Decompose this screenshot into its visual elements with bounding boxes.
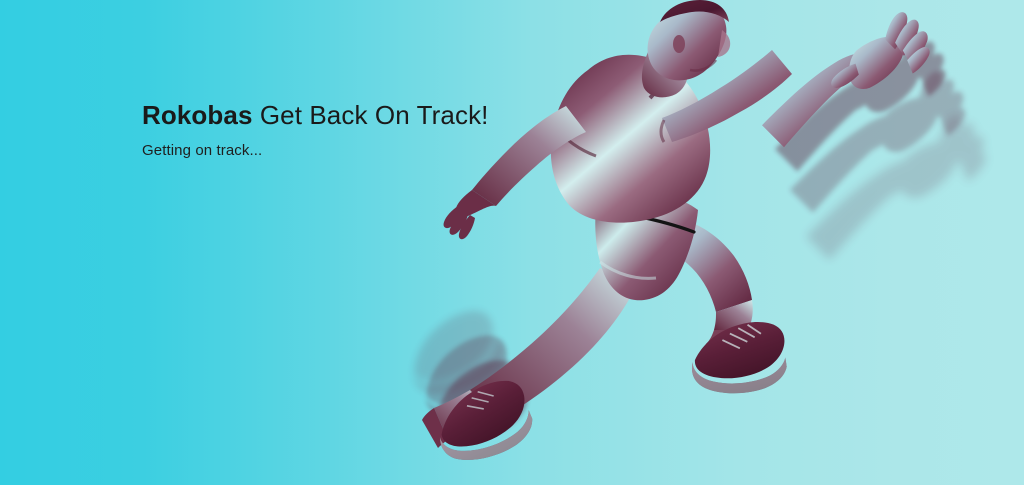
hero-copy: Rokobas Get Back On Track! Getting on tr…: [142, 100, 489, 160]
runner-illustration: [0, 0, 1024, 485]
headline-rest: Get Back On Track!: [253, 100, 489, 130]
status-text: Getting on track...: [142, 141, 489, 160]
brand-name: Rokobas: [142, 100, 253, 130]
lead-shoe: [690, 317, 789, 397]
page-title: Rokobas Get Back On Track!: [142, 100, 489, 130]
hero-banner: Rokobas Get Back On Track! Getting on tr…: [0, 0, 1024, 485]
